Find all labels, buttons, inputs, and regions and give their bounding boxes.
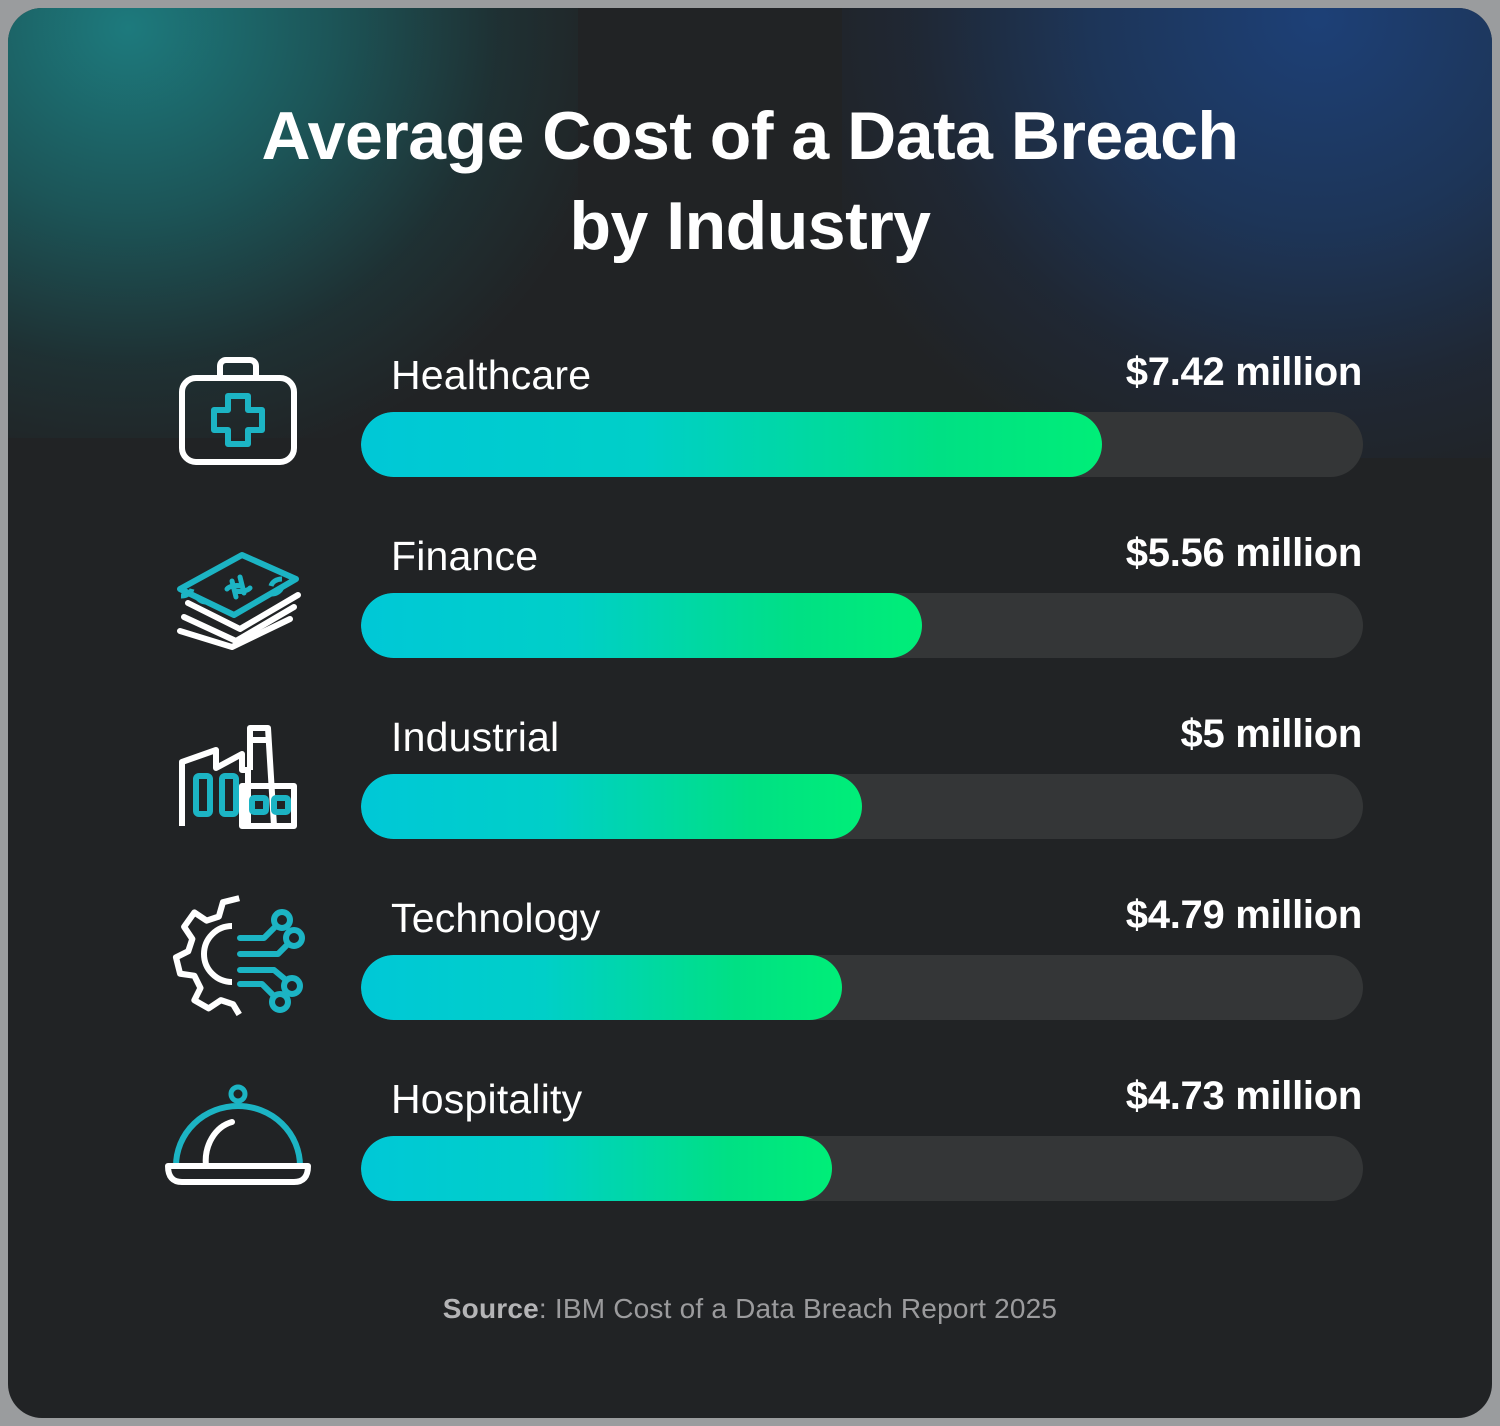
factory-icon: [156, 708, 320, 838]
bar-row-finance: Finance $5.56 million: [8, 519, 1492, 700]
cloche-icon: [156, 1070, 320, 1200]
source-separator: :: [539, 1293, 555, 1324]
bar-track-healthcare: [361, 412, 1363, 477]
bar-row-technology: Technology $4.79 million: [8, 881, 1492, 1062]
bar-fill-finance: [361, 593, 922, 658]
bar-fill-hospitality: [361, 1136, 832, 1201]
bar-track-industrial: [361, 774, 1363, 839]
gear-circuit-icon: [156, 889, 320, 1019]
bar-value-finance: $5.56 million: [1126, 531, 1362, 576]
bar-label-healthcare: Healthcare: [391, 352, 591, 399]
bar-label-technology: Technology: [391, 895, 600, 942]
source-text: IBM Cost of a Data Breach Report 2025: [555, 1293, 1057, 1324]
industry-bar-list: Healthcare $7.42 million: [8, 338, 1492, 1243]
bar-value-hospitality: $4.73 million: [1126, 1074, 1362, 1119]
page-title: Average Cost of a Data Breach by Industr…: [8, 92, 1492, 272]
bar-row-industrial: Industrial $5 million: [8, 700, 1492, 881]
bar-row-healthcare: Healthcare $7.42 million: [8, 338, 1492, 519]
source-label: Source: [443, 1293, 539, 1324]
bar-track-technology: [361, 955, 1363, 1020]
bar-fill-industrial: [361, 774, 862, 839]
bar-value-technology: $4.79 million: [1126, 893, 1362, 938]
bar-track-finance: [361, 593, 1363, 658]
bar-label-finance: Finance: [391, 533, 538, 580]
bar-row-hospitality: Hospitality $4.73 million: [8, 1062, 1492, 1243]
bar-fill-healthcare: [361, 412, 1102, 477]
bar-label-hospitality: Hospitality: [391, 1076, 582, 1123]
bar-value-industrial: $5 million: [1181, 712, 1363, 757]
medical-bag-icon: [156, 346, 320, 476]
bar-value-healthcare: $7.42 million: [1126, 350, 1362, 395]
money-stack-icon: [156, 527, 320, 657]
bar-fill-technology: [361, 955, 842, 1020]
source-note: Source: IBM Cost of a Data Breach Report…: [8, 1293, 1492, 1325]
bar-label-industrial: Industrial: [391, 714, 559, 761]
infographic-card: Average Cost of a Data Breach by Industr…: [8, 8, 1492, 1418]
bar-track-hospitality: [361, 1136, 1363, 1201]
